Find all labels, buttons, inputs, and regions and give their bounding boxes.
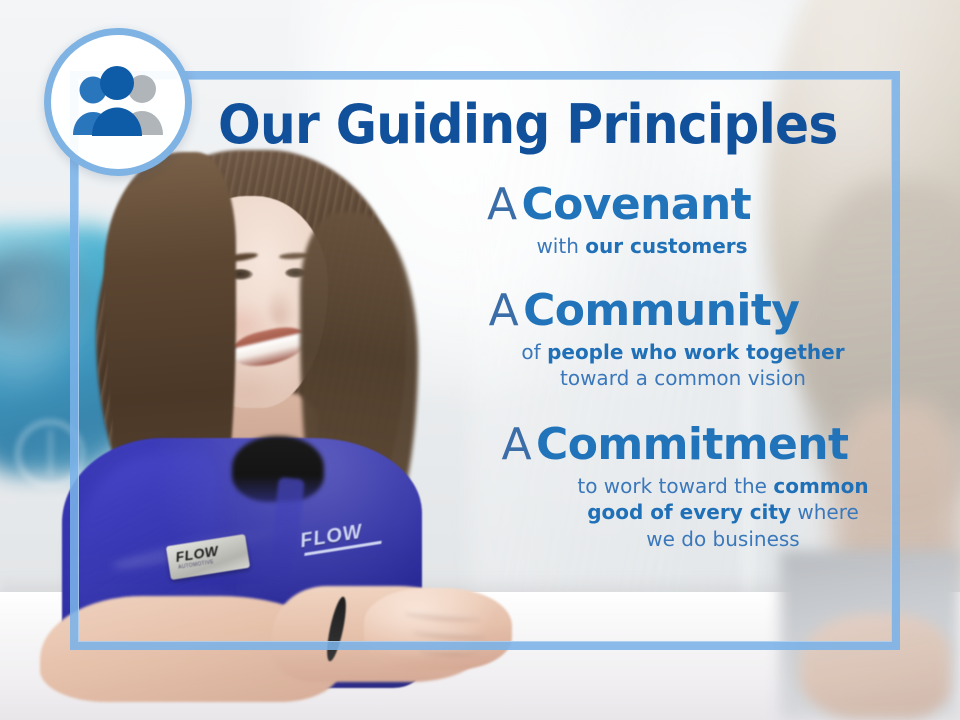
principle-article: A (502, 419, 532, 470)
subtext-plain: where (791, 500, 859, 524)
page-title: Our Guiding Principles (218, 97, 832, 153)
principle-community: ACommunity of people who work together t… (418, 286, 870, 392)
principle-subtext: with our customers (414, 233, 870, 259)
principles-list: ACovenant with our customers ACommunity … (250, 180, 870, 568)
subtext-bold: people who work together (547, 340, 845, 364)
principle-heading: ACovenant (368, 180, 870, 229)
principle-commitment: ACommitment to work toward the common go… (480, 420, 870, 552)
subtext-plain: we do business (646, 527, 799, 551)
subtext-plain: of (521, 340, 547, 364)
guiding-principles-banner: FLOW FLOW AUTOMOTIVE Our Guiding (0, 0, 960, 720)
principle-keyword: Commitment (536, 419, 848, 470)
subtext-bold: common (773, 474, 868, 498)
subtext-bold: our customers (585, 234, 747, 258)
principle-keyword: Community (523, 285, 799, 336)
subtext-plain: to work toward the (577, 474, 773, 498)
people-badge (44, 28, 192, 176)
principle-heading: ACommunity (418, 286, 870, 335)
principle-subtext: to work toward the common good of every … (576, 473, 870, 552)
principle-subtext: of people who work together toward a com… (496, 339, 870, 392)
subtext-bold: good of every city (587, 500, 791, 524)
principle-keyword: Covenant (521, 179, 751, 230)
people-group-icon (66, 65, 170, 139)
principle-article: A (489, 285, 519, 336)
principle-article: A (487, 179, 517, 230)
car-emblem-icon (16, 420, 84, 488)
customer-hand (800, 614, 950, 719)
subtext-plain: toward a common vision (560, 366, 806, 390)
subtext-plain: with (536, 234, 585, 258)
principle-covenant: ACovenant with our customers (368, 180, 870, 260)
principle-heading: ACommitment (480, 420, 870, 469)
